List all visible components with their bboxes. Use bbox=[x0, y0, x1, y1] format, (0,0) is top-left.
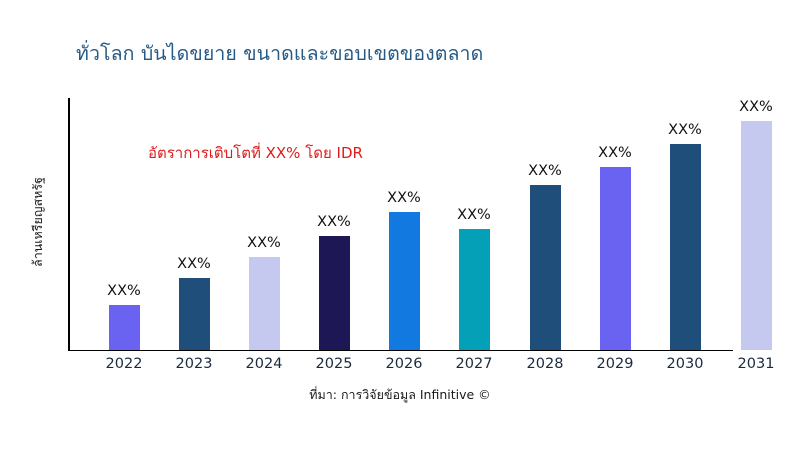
bar-value-label-2023: XX% bbox=[177, 256, 211, 272]
x-tick-2023: 2023 bbox=[176, 356, 213, 372]
x-tick-2026: 2026 bbox=[386, 356, 423, 372]
x-tick-2029: 2029 bbox=[597, 356, 634, 372]
bar-value-label-2028: XX% bbox=[528, 163, 562, 179]
x-tick-2024: 2024 bbox=[246, 356, 283, 372]
x-tick-2028: 2028 bbox=[527, 356, 564, 372]
bar-value-label-2029: XX% bbox=[598, 145, 632, 161]
y-axis-line bbox=[68, 98, 70, 351]
x-tick-2022: 2022 bbox=[106, 356, 143, 372]
bar-value-label-2022: XX% bbox=[107, 283, 141, 299]
plot-area: XX%XX%XX%XX%XX%XX%XX%XX%XX%XX% 202220232… bbox=[0, 0, 800, 450]
bar-value-label-2026: XX% bbox=[387, 190, 421, 206]
bar-2031[interactable] bbox=[741, 121, 772, 350]
chart-canvas: ทั่วโลก บันไดขยาย ขนาดและขอบเขตของตลาด ล… bbox=[0, 0, 800, 450]
bar-2026[interactable] bbox=[389, 212, 420, 350]
source-note: ที่มา: การวิจัยข้อมูล Infinitive © bbox=[0, 385, 800, 405]
bar-2029[interactable] bbox=[600, 167, 631, 350]
x-tick-2031: 2031 bbox=[738, 356, 775, 372]
bar-value-label-2031: XX% bbox=[739, 99, 773, 115]
x-tick-2025: 2025 bbox=[316, 356, 353, 372]
x-tick-2030: 2030 bbox=[667, 356, 704, 372]
bar-2028[interactable] bbox=[530, 185, 561, 350]
bar-2027[interactable] bbox=[459, 229, 490, 350]
bar-value-label-2025: XX% bbox=[317, 214, 351, 230]
growth-rate-annotation: อัตราการเติบโตที่ XX% โดย IDR bbox=[148, 141, 363, 165]
bar-2022[interactable] bbox=[109, 305, 140, 350]
bar-value-label-2024: XX% bbox=[247, 235, 281, 251]
bar-2023[interactable] bbox=[179, 278, 210, 350]
bar-2024[interactable] bbox=[249, 257, 280, 350]
x-tick-2027: 2027 bbox=[456, 356, 493, 372]
bar-2025[interactable] bbox=[319, 236, 350, 350]
bar-value-label-2027: XX% bbox=[457, 207, 491, 223]
bar-2030[interactable] bbox=[670, 144, 701, 350]
bar-value-label-2030: XX% bbox=[668, 122, 702, 138]
